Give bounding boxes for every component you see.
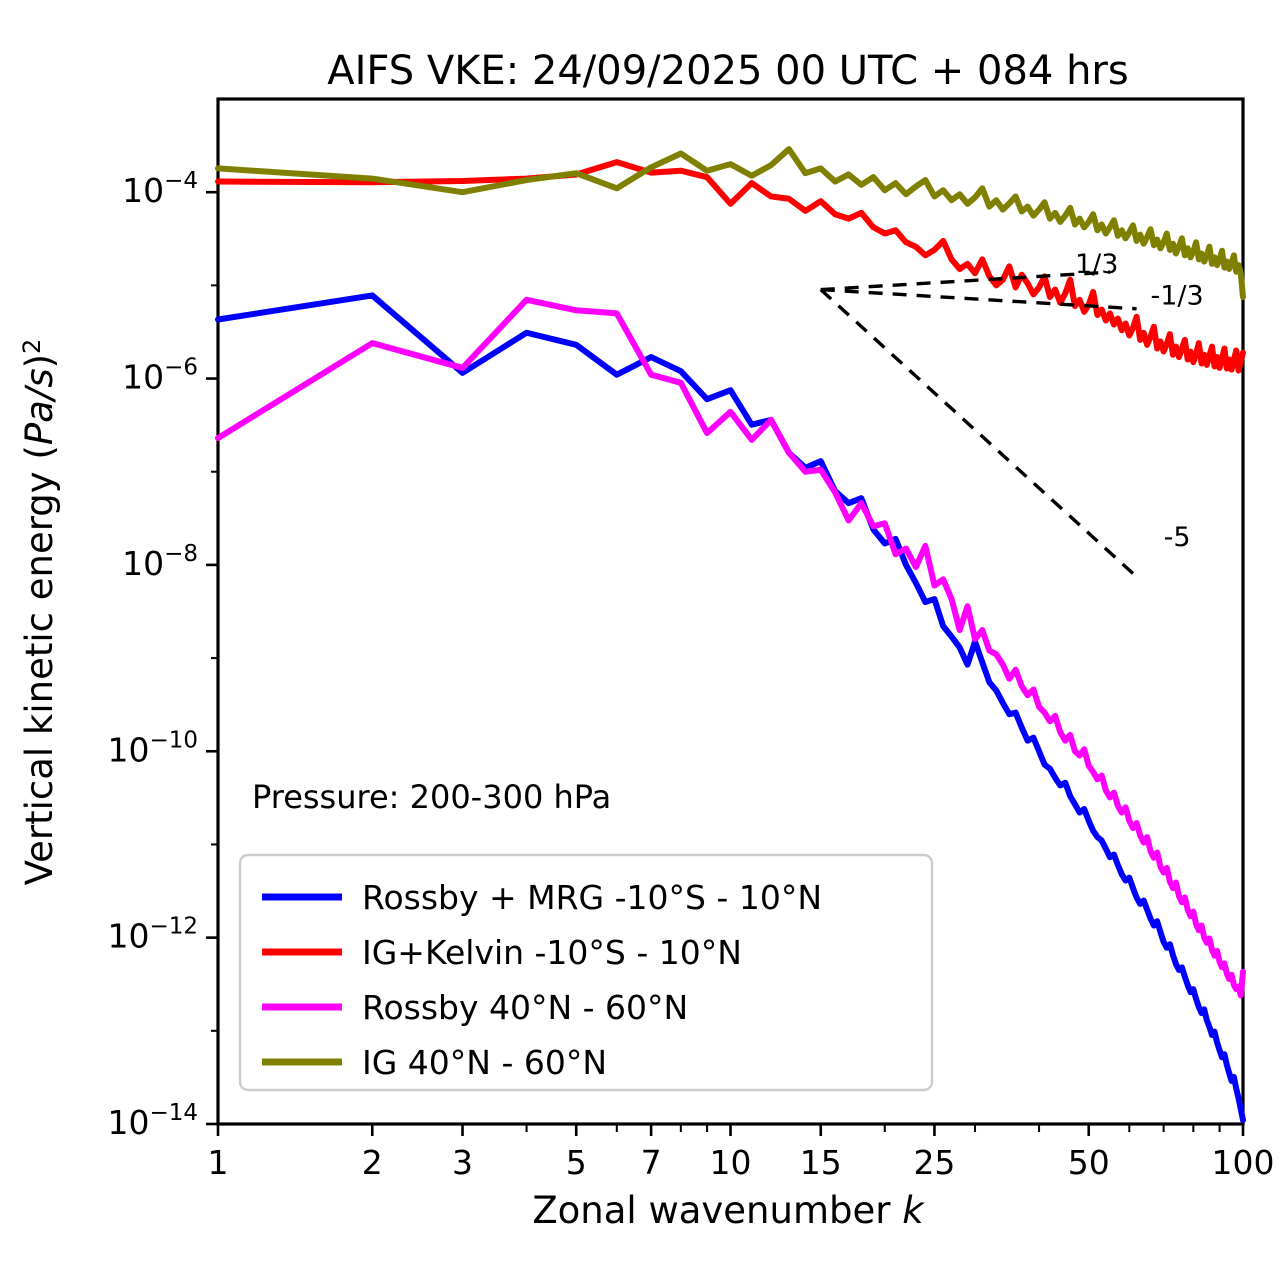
y-tick-label: 10−10 <box>107 727 198 769</box>
page-title: AIFS VKE: 24/09/2025 00 UTC + 084 hrs <box>327 48 1128 94</box>
reference-line-2 <box>821 290 1137 577</box>
x-tick-label: 2 <box>362 1143 383 1182</box>
vke-spectrum-chart: AIFS VKE: 24/09/2025 00 UTC + 084 hrs 12… <box>0 0 1280 1288</box>
y-axis-label: Vertical kinetic energy (Pa/s)2 <box>18 339 61 886</box>
slope-label--5: -5 <box>1164 522 1191 553</box>
legend-label-0: Rossby + MRG -10°S - 10°N <box>362 878 822 917</box>
x-tick-label: 25 <box>913 1143 955 1182</box>
y-tick-label: 10−6 <box>122 355 198 397</box>
x-tick-label: 5 <box>566 1143 587 1182</box>
legend: Rossby + MRG -10°S - 10°NIG+Kelvin -10°S… <box>240 855 932 1090</box>
y-tick-label: 10−12 <box>107 914 198 956</box>
y-tick-label: 10−14 <box>107 1100 198 1142</box>
x-axis-label: Zonal wavenumber k <box>532 1189 925 1232</box>
x-tick-label: 10 <box>710 1143 752 1182</box>
slope-label--1-3: -1/3 <box>1151 281 1204 312</box>
legend-label-3: IG 40°N - 60°N <box>362 1043 607 1082</box>
x-tick-label: 7 <box>641 1143 662 1182</box>
x-tick-label: 15 <box>800 1143 842 1182</box>
y-tick-label: 10−8 <box>122 541 198 583</box>
figure-container: AIFS VKE: 24/09/2025 00 UTC + 084 hrs 12… <box>0 0 1280 1288</box>
x-tick-label: 1 <box>208 1143 229 1182</box>
slope-label-1-3: 1/3 <box>1075 249 1118 280</box>
x-axis-ticks: 1235710152550100 <box>208 1124 1275 1182</box>
x-tick-label: 50 <box>1068 1143 1110 1182</box>
y-tick-label: 10−4 <box>122 168 198 210</box>
legend-label-2: Rossby 40°N - 60°N <box>362 988 688 1027</box>
reference-slope-lines <box>821 272 1137 577</box>
x-tick-label: 100 <box>1212 1143 1275 1182</box>
x-tick-label: 3 <box>452 1143 473 1182</box>
pressure-annotation: Pressure: 200-300 hPa <box>252 778 611 816</box>
y-axis-ticks: 10−410−610−810−1010−1210−14 <box>107 168 218 1142</box>
legend-label-1: IG+Kelvin -10°S - 10°N <box>362 933 742 972</box>
